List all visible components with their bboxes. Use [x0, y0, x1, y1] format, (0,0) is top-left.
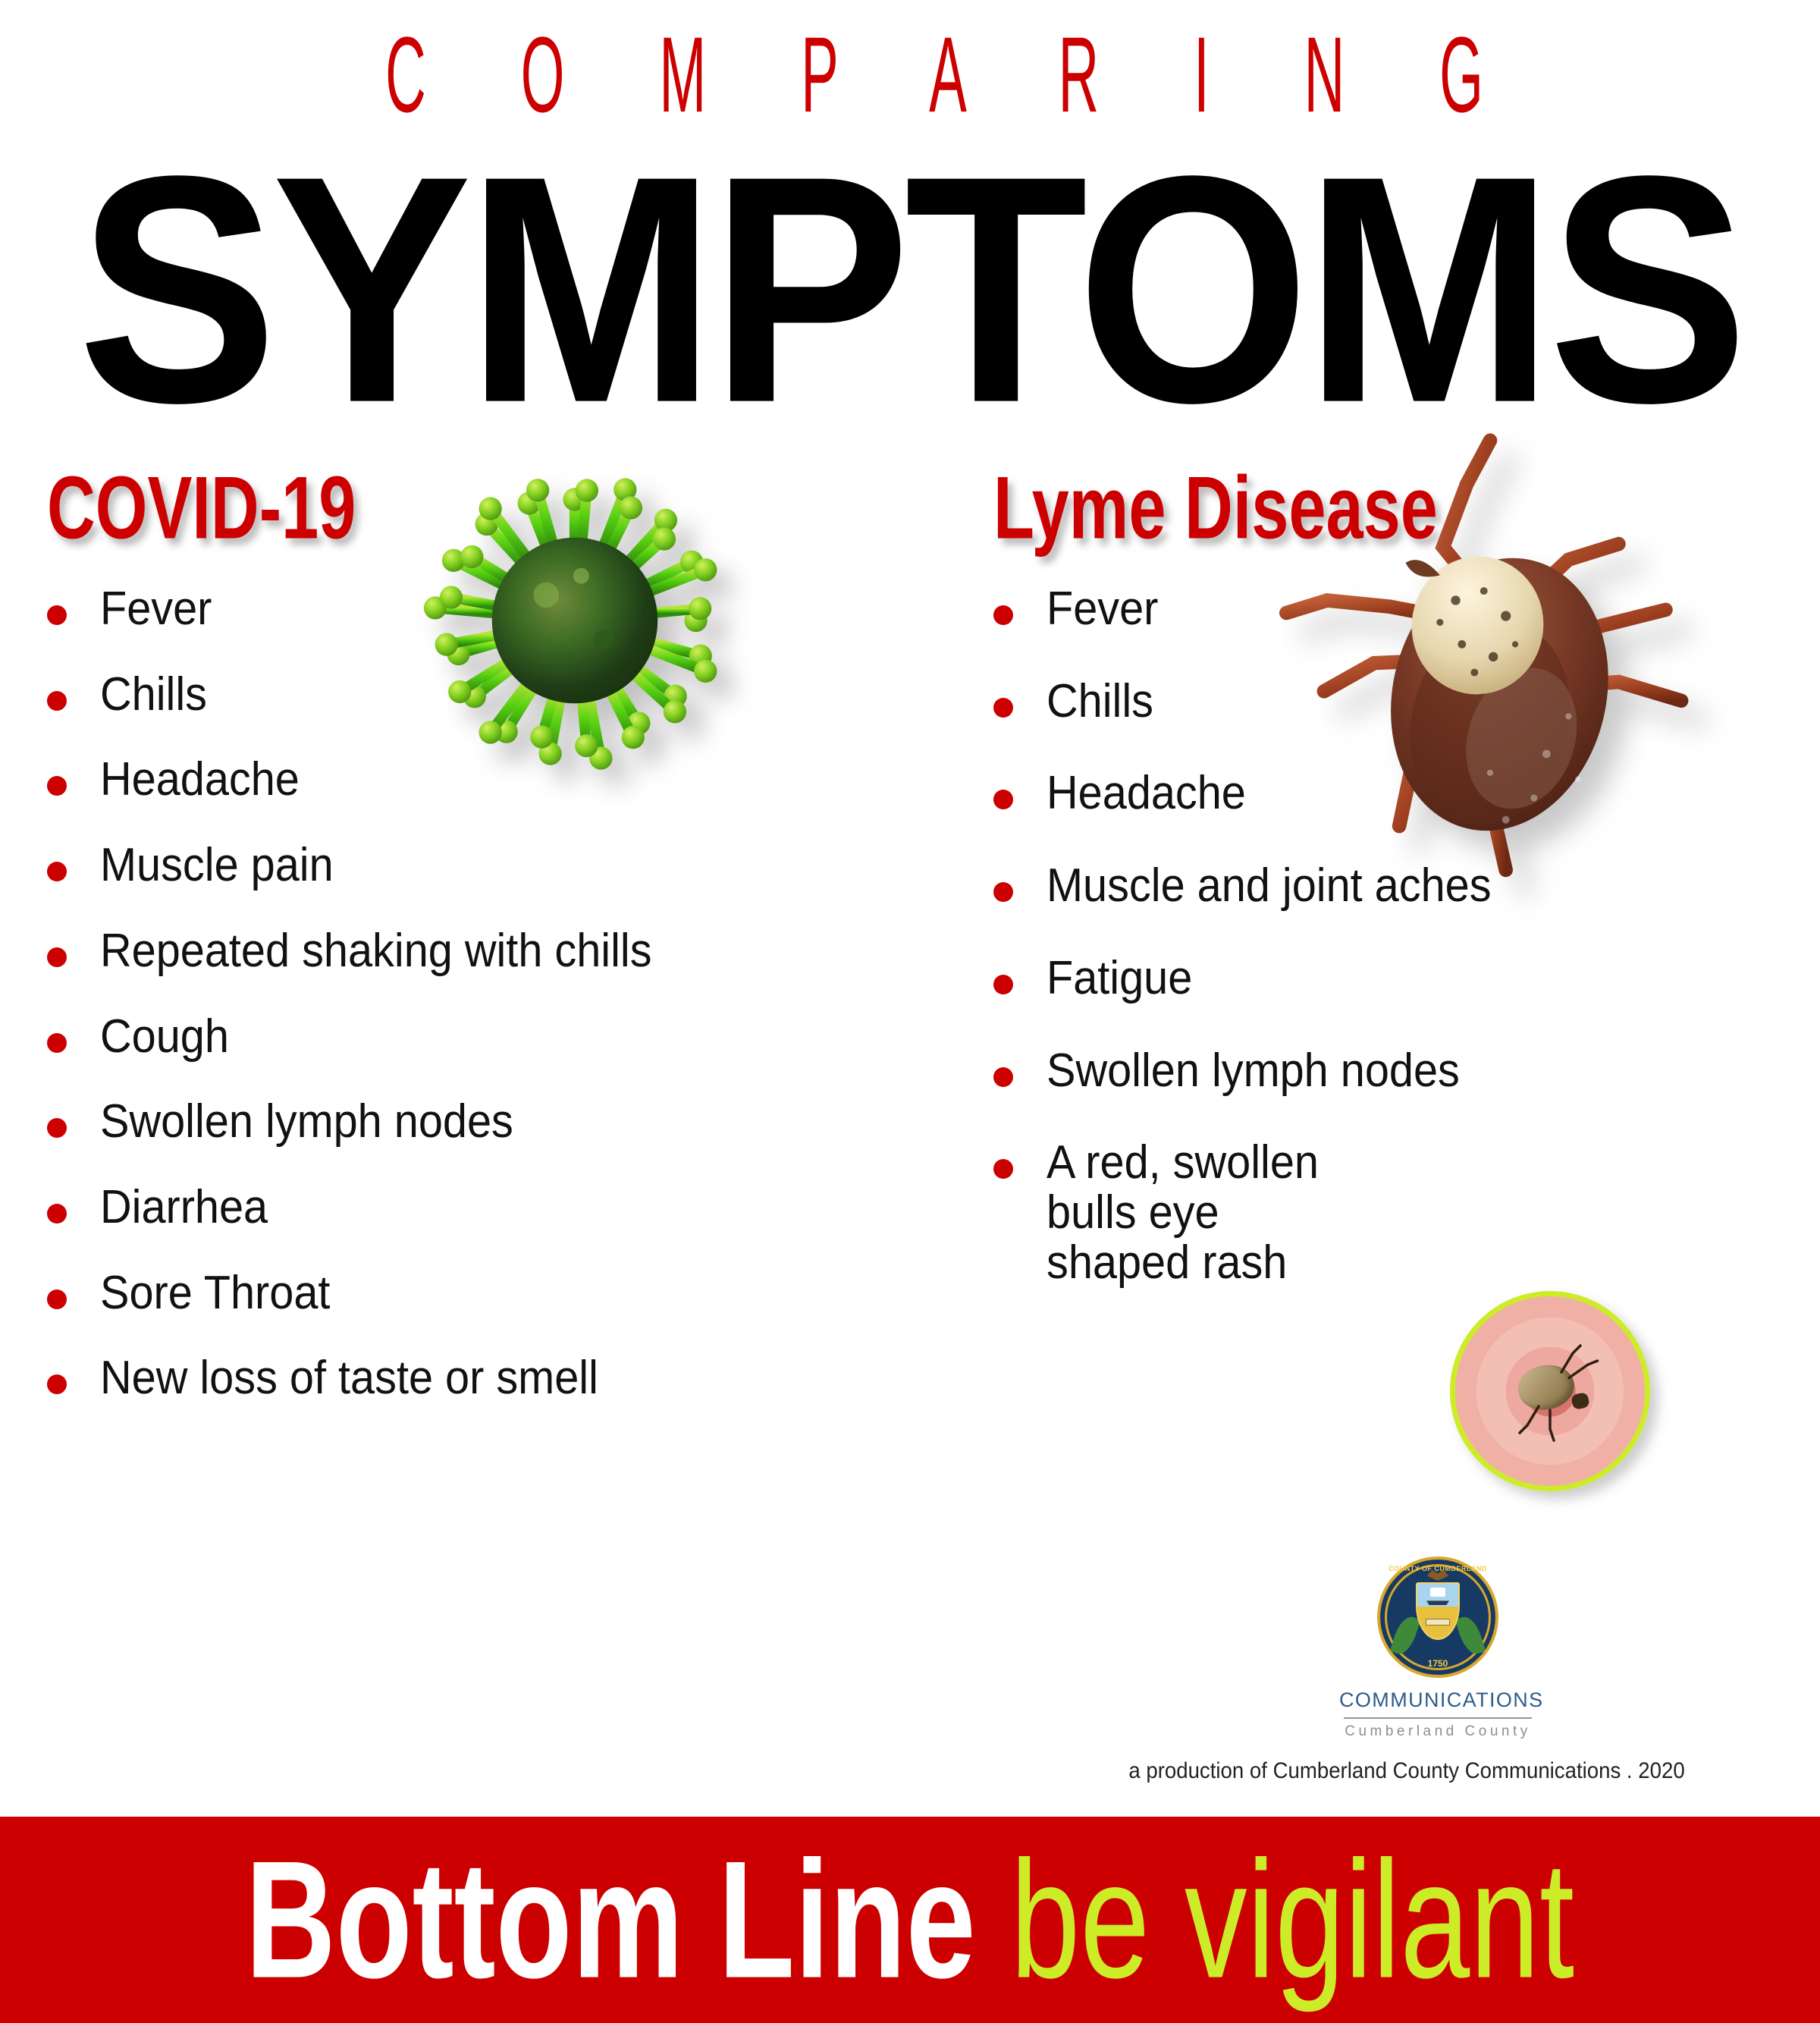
symptom-item: Fever [993, 584, 1820, 634]
bullseye-rash-icon [1450, 1291, 1650, 1491]
bullet-icon [993, 790, 1013, 809]
county-seal-icon: COUNTY OF CUMBERLAND 1750 [1377, 1557, 1498, 1678]
bullet-icon [47, 1118, 67, 1138]
bullet-icon [993, 1159, 1013, 1179]
symptom-label: New loss of taste or smell [100, 1353, 598, 1403]
symptom-item: Cough [47, 1012, 980, 1062]
bullet-icon [47, 862, 67, 881]
bullet-icon [47, 947, 67, 967]
seal-plow-icon [1426, 1619, 1450, 1626]
symptom-label: Cough [100, 1012, 229, 1062]
symptom-item: Swollen lymph nodes [47, 1097, 980, 1147]
seal-year: 1750 [1380, 1658, 1495, 1669]
column-lyme: Lyme Disease FeverChillsHeadacheMuscle a… [993, 464, 1820, 1330]
symptom-item: Repeated shaking with chills [47, 926, 980, 976]
symptom-item: Swollen lymph nodes [993, 1046, 1820, 1096]
symptom-label: Headache [1046, 768, 1246, 818]
symptom-label: A red, swollen bulls eye shaped rash [1046, 1138, 1319, 1287]
symptom-item: Diarrhea [47, 1183, 980, 1233]
symptom-item: Fever [47, 584, 980, 634]
covid-title: COVID-19 [47, 464, 905, 553]
symptom-label: Chills [1046, 677, 1153, 727]
symptom-item: Muscle pain [47, 840, 980, 891]
bullet-icon [993, 1067, 1013, 1087]
production-credit: a production of Cumberland County Commun… [1027, 1758, 1787, 1784]
symptom-item: New loss of taste or smell [47, 1353, 980, 1403]
county-logo: COUNTY OF CUMBERLAND 1750 COMMUNICATIONS… [1339, 1557, 1536, 1740]
bullet-icon [47, 691, 67, 711]
bullet-icon [993, 605, 1013, 625]
bullet-icon [47, 1033, 67, 1053]
symptom-label: Fever [100, 584, 212, 634]
bottom-banner: Bottom Line be vigilant [0, 1817, 1820, 2023]
lyme-symptom-list: FeverChillsHeadacheMuscle and joint ache… [993, 584, 1820, 1287]
symptom-label: Muscle and joint aches [1046, 861, 1492, 911]
logo-divider [1344, 1717, 1532, 1719]
bullet-icon [993, 698, 1013, 718]
bullet-icon [47, 1204, 67, 1224]
covid-symptom-list: FeverChillsHeadacheMuscle painRepeated s… [47, 584, 980, 1403]
symptom-item: Muscle and joint aches [993, 861, 1820, 911]
symptom-item: Sore Throat [47, 1268, 980, 1318]
symptom-label: Fatigue [1046, 953, 1192, 1004]
lyme-title: Lyme Disease [993, 464, 1754, 553]
seal-leaf-left-icon [1390, 1613, 1421, 1657]
symptom-label: Chills [100, 670, 207, 720]
column-covid: COVID-19 FeverChillsHeadacheMuscle painR… [47, 464, 980, 1439]
seal-sail-icon [1430, 1588, 1445, 1597]
bullet-icon [47, 776, 67, 796]
symptom-item: A red, swollen bulls eye shaped rash [993, 1138, 1820, 1287]
page-title: SYMPTOMS [0, 127, 1820, 451]
bullet-icon [993, 975, 1013, 994]
bullet-icon [47, 605, 67, 625]
symptom-label: Sore Throat [100, 1268, 330, 1318]
logo-org-line2: Cumberland County [1339, 1723, 1536, 1740]
symptom-item: Headache [993, 768, 1820, 818]
symptom-item: Chills [47, 670, 980, 720]
seal-leaf-right-icon [1455, 1613, 1486, 1657]
bullet-icon [47, 1374, 67, 1394]
banner-text: Bottom Line be vigilant [246, 1836, 1574, 2003]
seal-ring-label: COUNTY OF CUMBERLAND [1380, 1565, 1495, 1572]
symptom-label: Swollen lymph nodes [1046, 1046, 1460, 1096]
banner-text-white: Bottom Line [246, 1827, 976, 2013]
symptom-label: Fever [1046, 584, 1158, 634]
symptom-item: Chills [993, 677, 1820, 727]
symptom-label: Headache [100, 755, 300, 805]
bullet-icon [47, 1290, 67, 1309]
symptom-label: Swollen lymph nodes [100, 1097, 513, 1147]
rash-tick-legs [1455, 1296, 1645, 1486]
symptom-label: Diarrhea [100, 1183, 268, 1233]
symptom-label: Repeated shaking with chills [100, 926, 652, 976]
banner-text-yellow: be vigilant [1011, 1827, 1575, 2013]
symptom-item: Headache [47, 755, 980, 805]
bullet-icon [993, 882, 1013, 902]
symptom-label: Muscle pain [100, 840, 334, 891]
logo-org-line1: COMMUNICATIONS [1339, 1688, 1536, 1712]
seal-shield-icon [1416, 1582, 1460, 1640]
symptom-item: Fatigue [993, 953, 1820, 1004]
